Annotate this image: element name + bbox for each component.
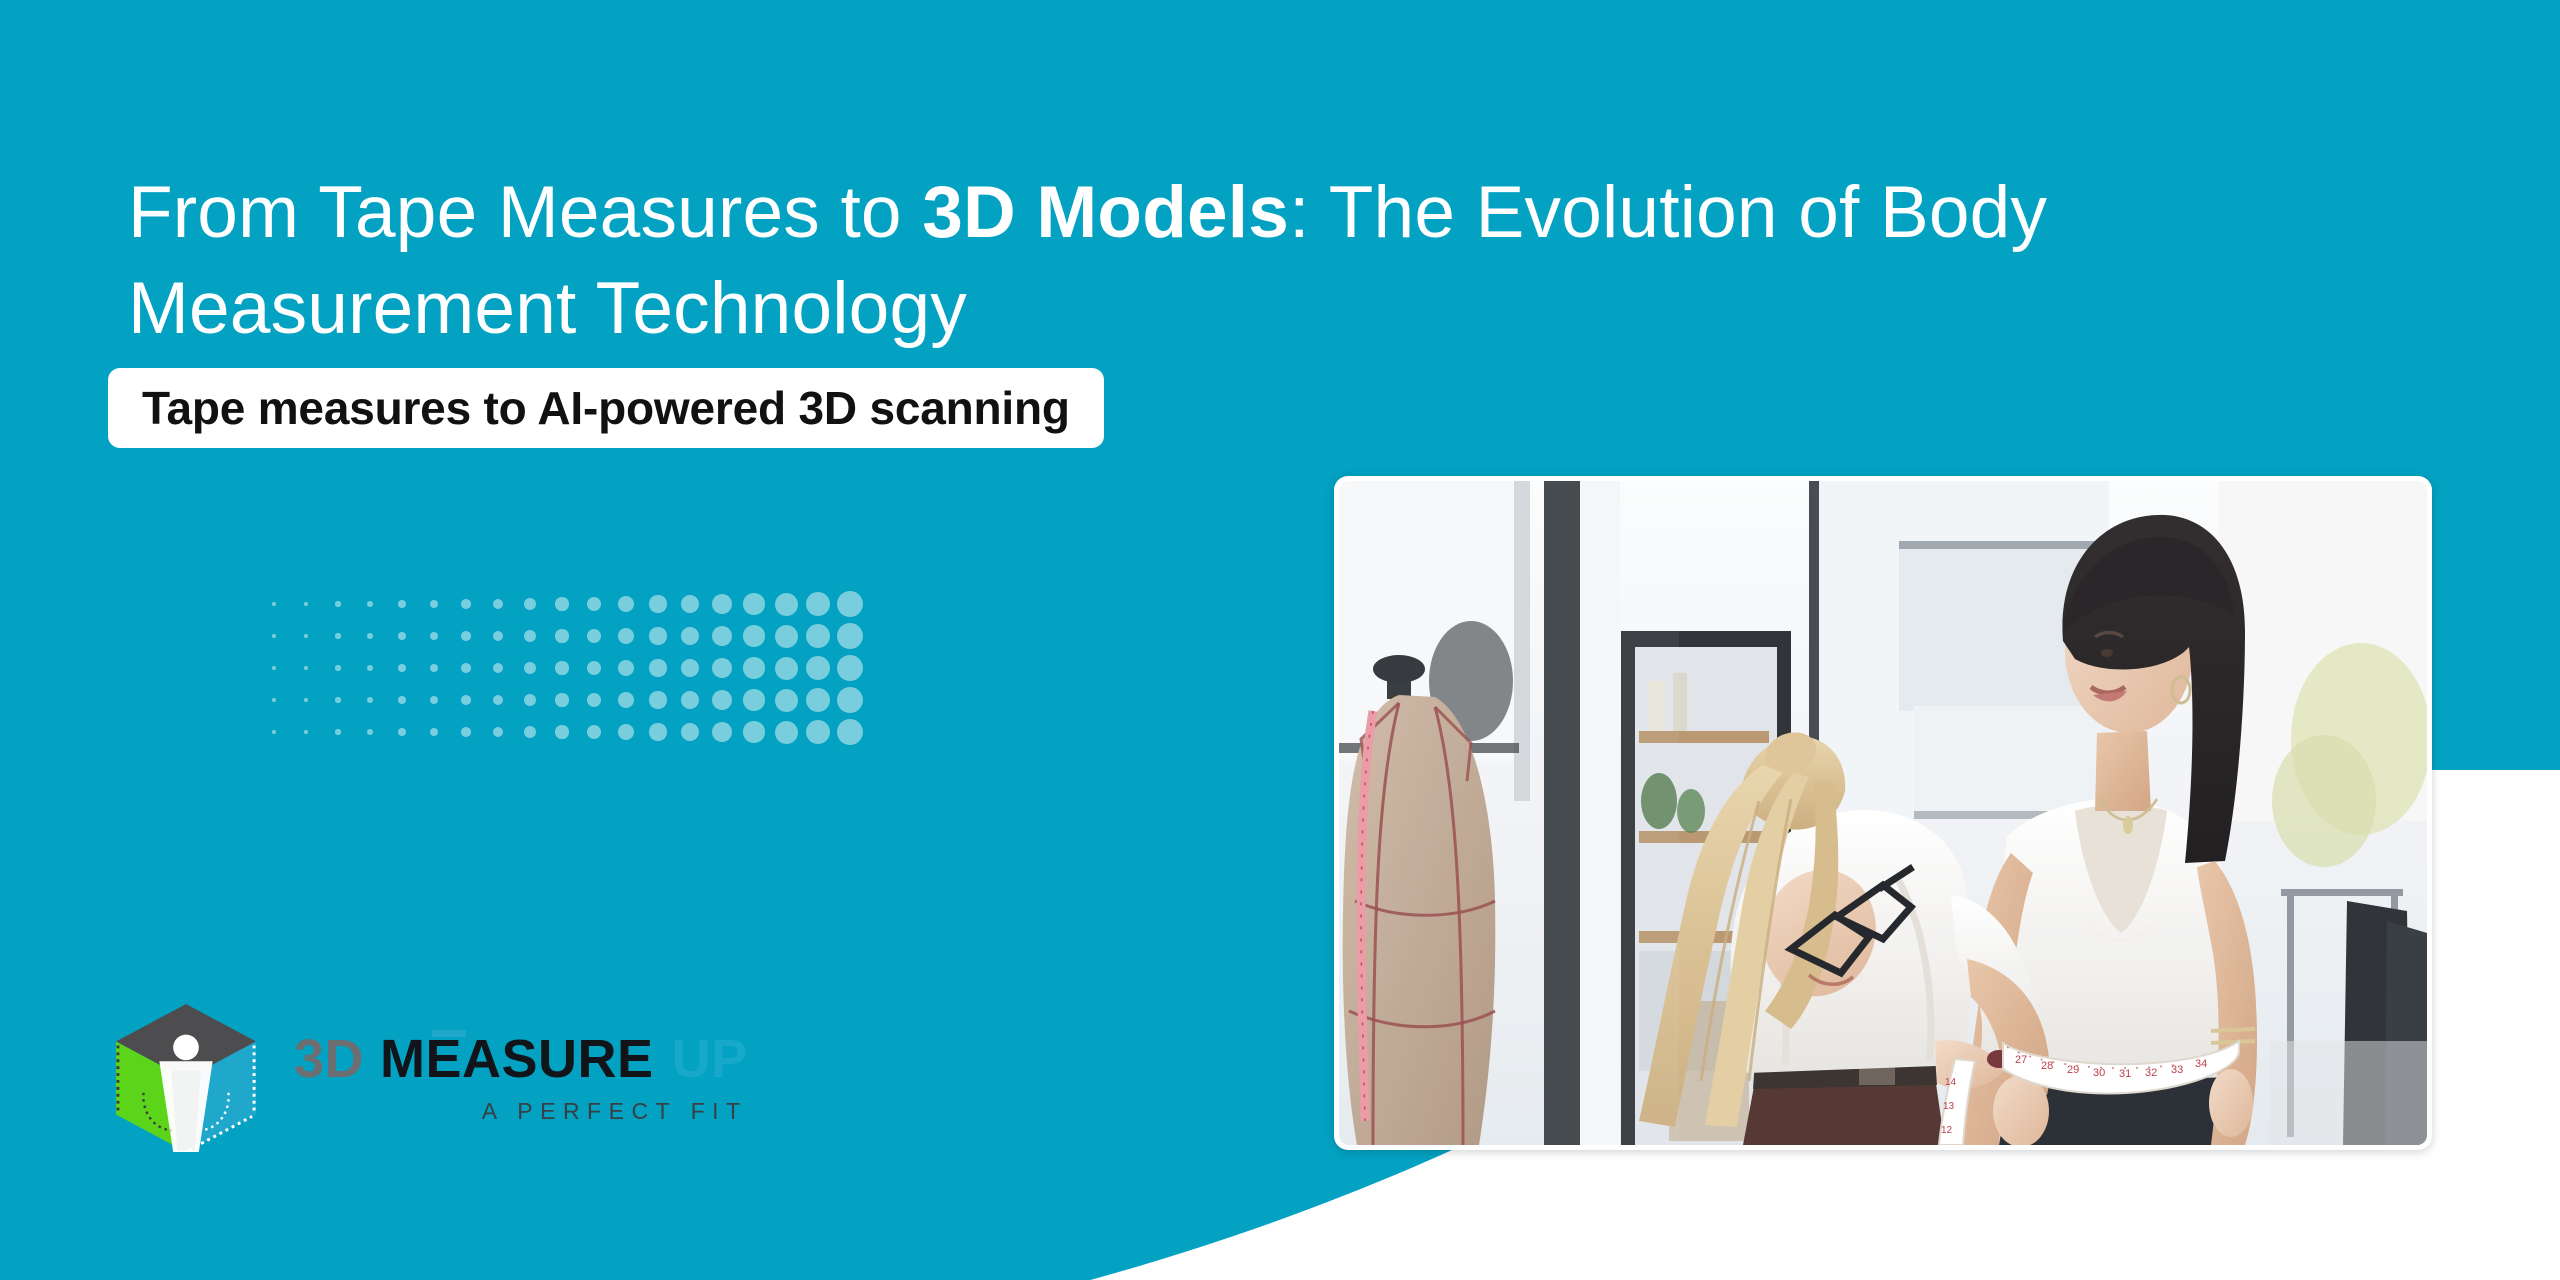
halftone-dot xyxy=(743,657,765,679)
halftone-dot xyxy=(806,688,831,713)
halftone-dot xyxy=(335,729,340,734)
halftone-dot xyxy=(367,601,373,607)
halftone-dot xyxy=(524,630,536,642)
halftone-dot xyxy=(806,656,831,681)
halftone-dot xyxy=(555,597,568,610)
brand-logo[interactable]: 3D MEASURE UP A PERFECT FIT xyxy=(112,1002,748,1154)
halftone-dot xyxy=(367,665,373,671)
cube-logo-icon xyxy=(112,1002,260,1154)
halftone-dot xyxy=(398,728,405,735)
halftone-dot xyxy=(367,633,373,639)
halftone-dot xyxy=(681,627,700,646)
halftone-dot xyxy=(461,727,471,737)
halftone-dot xyxy=(618,596,634,612)
halftone-dot xyxy=(587,597,602,612)
halftone-dot xyxy=(272,666,276,670)
halftone-dot xyxy=(493,599,504,610)
halftone-dot xyxy=(712,690,732,710)
halftone-dot xyxy=(806,624,831,649)
halftone-dot xyxy=(618,692,634,708)
logo-text-3d: 3D xyxy=(294,1032,364,1086)
halftone-dot xyxy=(775,721,798,744)
halftone-dot xyxy=(837,623,863,649)
halftone-dot xyxy=(524,662,536,674)
halftone-dot xyxy=(272,634,276,638)
halftone-dot xyxy=(555,629,568,642)
halftone-dot xyxy=(837,687,863,713)
halftone-dot xyxy=(493,727,504,738)
halftone-dot xyxy=(335,633,340,638)
halftone-dot xyxy=(712,722,732,742)
halftone-dot xyxy=(587,725,602,740)
halftone-dot xyxy=(555,661,568,674)
halftone-dot xyxy=(743,625,765,647)
halftone-dot xyxy=(712,626,732,646)
halftone-dot xyxy=(461,631,471,641)
halftone-dot xyxy=(524,726,536,738)
halftone-dot xyxy=(775,657,798,680)
halftone-dot xyxy=(649,595,666,612)
headline-part-1: From Tape Measures to xyxy=(128,172,922,253)
subtitle-badge: Tape measures to AI-powered 3D scanning xyxy=(108,368,1104,448)
halftone-dot xyxy=(618,724,634,740)
halftone-dot xyxy=(649,691,666,708)
halftone-dot xyxy=(430,632,438,640)
halftone-dot xyxy=(681,691,700,710)
logo-tagline: A PERFECT FIT xyxy=(482,1098,748,1125)
halftone-dot xyxy=(493,695,504,706)
halftone-dot xyxy=(398,664,405,671)
halftone-dot xyxy=(461,663,471,673)
halftone-dot xyxy=(618,660,634,676)
halftone-dot xyxy=(837,591,863,617)
logo-wordmark: 3D MEASURE UP A PERFECT FIT xyxy=(294,1032,748,1125)
halftone-dot xyxy=(743,721,765,743)
halftone-dot xyxy=(304,698,309,703)
halftone-dot xyxy=(367,729,373,735)
halftone-dot xyxy=(430,696,438,704)
halftone-dot xyxy=(587,693,602,708)
halftone-dot xyxy=(335,697,340,702)
halftone-dot xyxy=(304,602,309,607)
halftone-dot xyxy=(649,659,666,676)
halftone-dot xyxy=(806,720,831,745)
logo-text-up: UP xyxy=(672,1032,748,1086)
halftone-dot xyxy=(743,593,765,615)
halftone-dot xyxy=(335,601,340,606)
halftone-dot xyxy=(649,627,666,644)
halftone-dot xyxy=(304,730,309,735)
halftone-dot xyxy=(775,689,798,712)
halftone-dot xyxy=(587,629,602,644)
halftone-dot xyxy=(555,693,568,706)
halftone-dot xyxy=(398,600,405,607)
halftone-dot xyxy=(272,698,276,702)
headline-emphasis: 3D Models xyxy=(922,172,1289,253)
halftone-dot-grid xyxy=(258,588,866,748)
halftone-dot xyxy=(618,628,634,644)
halftone-dot xyxy=(335,665,340,670)
halftone-dot xyxy=(304,666,309,671)
halftone-dot xyxy=(367,697,373,703)
halftone-dot xyxy=(775,625,798,648)
halftone-dot xyxy=(272,730,276,734)
halftone-dot xyxy=(806,592,831,617)
halftone-dot xyxy=(712,658,732,678)
halftone-dot xyxy=(681,595,700,614)
halftone-dot xyxy=(555,725,568,738)
logo-text-measure: MEASURE xyxy=(380,1032,654,1086)
page-title: From Tape Measures to 3D Models: The Evo… xyxy=(128,165,2308,358)
halftone-dot xyxy=(461,695,471,705)
halftone-dot xyxy=(524,598,536,610)
halftone-dot xyxy=(398,632,405,639)
hero-photo: 27 28 29 30 31 32 33 34 14 13 12 xyxy=(1339,481,2427,1145)
halftone-dot xyxy=(743,689,765,711)
logo-e-accent-bar xyxy=(432,1030,466,1037)
halftone-dot xyxy=(398,696,405,703)
hero-photo-card: 27 28 29 30 31 32 33 34 14 13 12 xyxy=(1334,476,2432,1150)
halftone-dot xyxy=(304,634,309,639)
halftone-dot xyxy=(837,655,863,681)
halftone-dot xyxy=(430,664,438,672)
halftone-dot xyxy=(712,594,732,614)
halftone-dot xyxy=(587,661,602,676)
halftone-dot xyxy=(430,600,438,608)
banner-canvas: From Tape Measures to 3D Models: The Evo… xyxy=(0,0,2560,1280)
halftone-dot xyxy=(837,719,863,745)
hero-photo-illustration: 27 28 29 30 31 32 33 34 14 13 12 xyxy=(1339,481,2427,1145)
halftone-dot xyxy=(681,723,700,742)
halftone-dot xyxy=(649,723,666,740)
halftone-dot xyxy=(493,663,504,674)
halftone-dot xyxy=(430,728,438,736)
logo-wordmark-line-1: 3D MEASURE UP xyxy=(294,1032,748,1086)
halftone-dot xyxy=(461,599,471,609)
halftone-dot xyxy=(272,602,276,606)
logo-text-measure-label: MEASURE xyxy=(380,1029,654,1089)
halftone-dot xyxy=(493,631,504,642)
subtitle-badge-label: Tape measures to AI-powered 3D scanning xyxy=(142,381,1070,435)
halftone-dot xyxy=(775,593,798,616)
halftone-dot xyxy=(524,694,536,706)
halftone-dot xyxy=(681,659,700,678)
